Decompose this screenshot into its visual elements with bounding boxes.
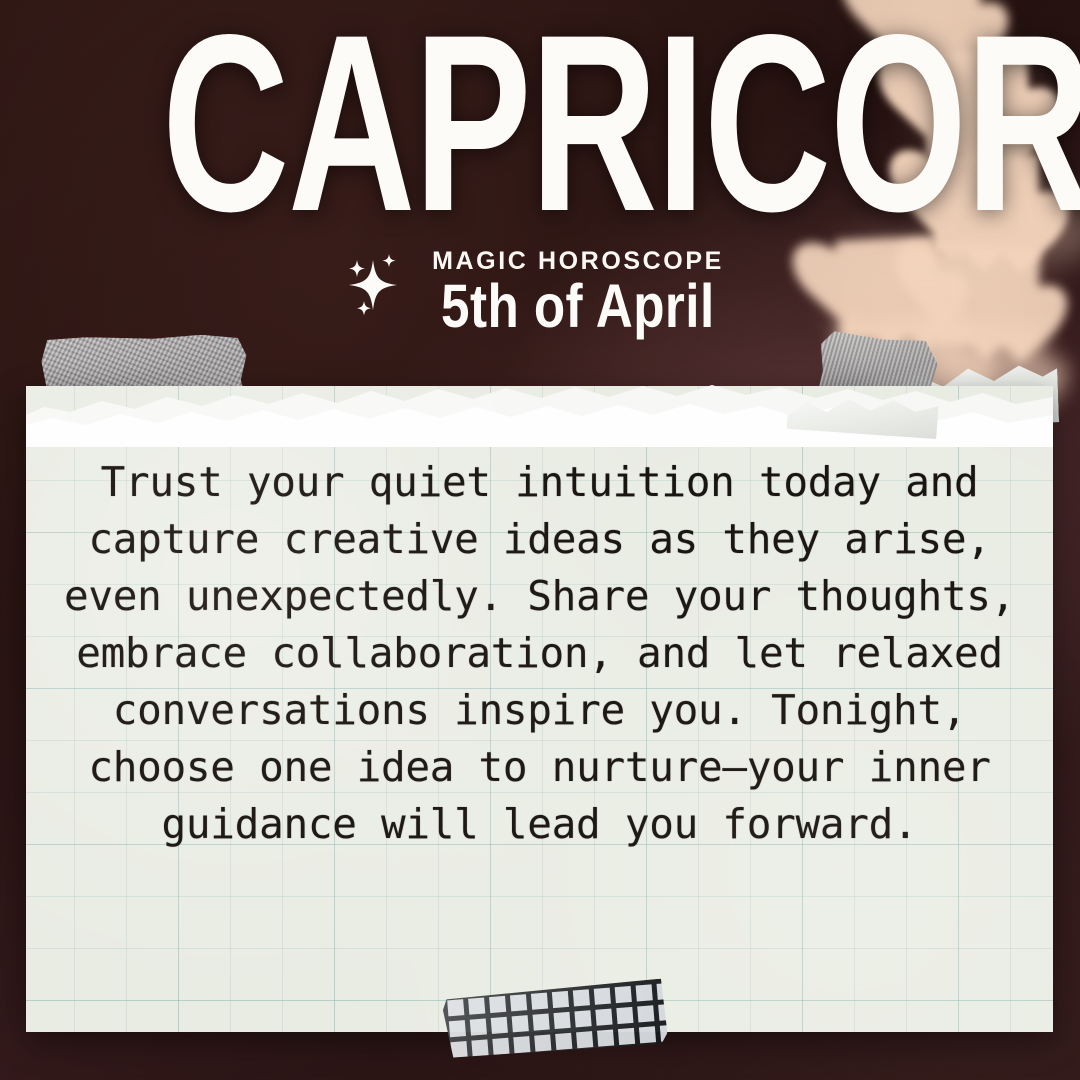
subtitle-texts: MAGIC HOROSCOPE 5th of April (415, 246, 741, 334)
page-title: CAPRICORN (162, 8, 918, 240)
note-paper: Trust your quiet intuition today and cap… (26, 386, 1053, 1032)
horoscope-body-text: Trust your quiet intuition today and cap… (60, 454, 1019, 853)
horoscope-card: CAPRICORN MAGIC HOROSCOPE 5th of April T… (0, 0, 1080, 1080)
subtitle-block: MAGIC HOROSCOPE 5th of April (0, 246, 1080, 334)
date-label: 5th of April (441, 278, 715, 334)
sparkle-icon (339, 252, 409, 328)
